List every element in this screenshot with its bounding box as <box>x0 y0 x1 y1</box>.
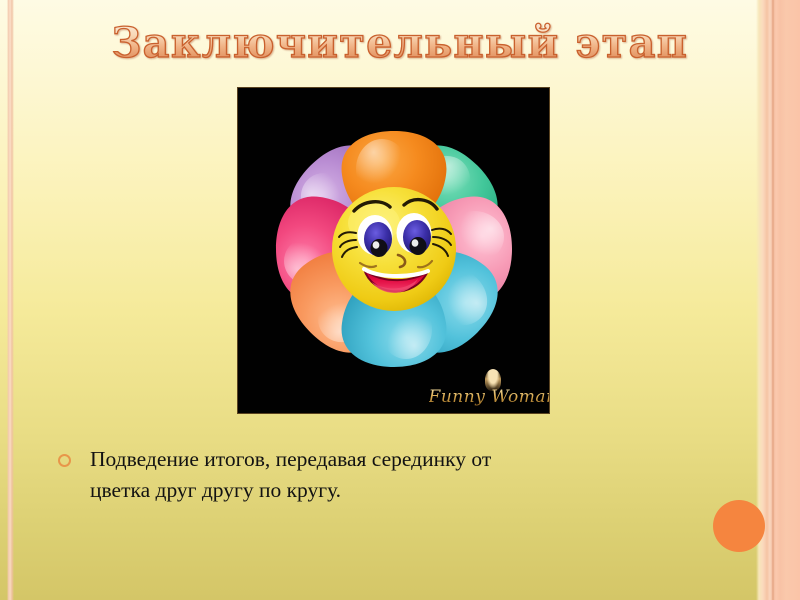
right-border-hairline <box>772 0 774 600</box>
body-text-block: Подведение итогов, передавая серединку о… <box>56 444 644 506</box>
left-border-rule <box>7 0 14 600</box>
page-title: Заключительный этап <box>112 22 689 65</box>
flower-image: Funny Woman <box>238 88 549 413</box>
flower-graphic <box>264 117 524 377</box>
slide-canvas: Заключительный этап <box>0 0 800 600</box>
body-line-2: цветка друг другу по кругу. <box>90 475 644 506</box>
body-line-1: Подведение итогов, передавая серединку о… <box>90 447 491 471</box>
watermark-text: Funny Woman <box>429 387 549 407</box>
body-paragraph: Подведение итогов, передавая серединку о… <box>56 444 644 506</box>
smiley-face-center <box>332 187 456 311</box>
orange-dot-decoration <box>713 500 765 552</box>
right-border-band <box>756 0 800 600</box>
bullet-icon <box>58 454 71 467</box>
page-title-wrapper: Заключительный этап <box>0 22 800 65</box>
